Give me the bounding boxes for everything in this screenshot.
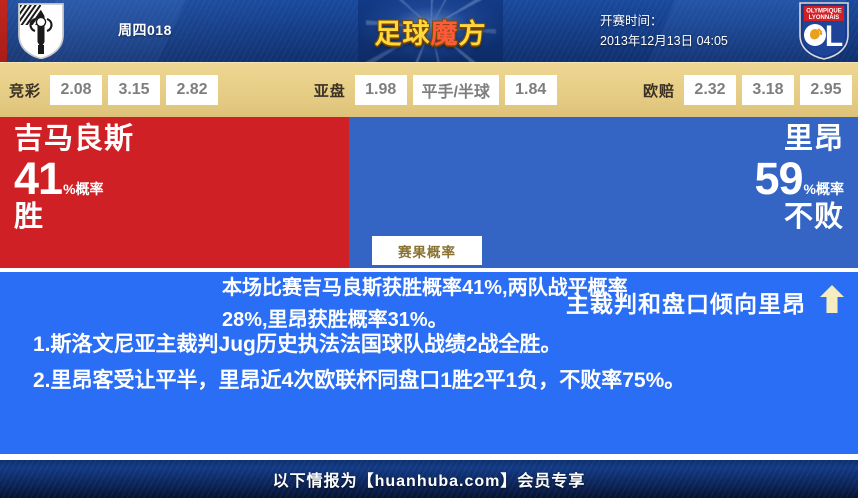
- away-result-label: 不败: [754, 203, 844, 232]
- home-probability-panel: 吉马良斯 41%概率 胜: [0, 117, 349, 268]
- odds-group-label: 竞彩: [0, 80, 50, 101]
- up-arrow-icon: [818, 284, 846, 314]
- intel-list-item: 2.里昂客受让平半，里昂近4次欧联杯同盘口1胜2平1负，不败率75%。: [33, 363, 833, 399]
- home-team-crest-icon: [17, 2, 65, 59]
- kickoff-label: 开赛时间：: [600, 11, 728, 31]
- home-percent-value: 41: [14, 153, 62, 204]
- odds-group-oupei: 欧赔 2.32 3.18 2.95: [634, 75, 858, 105]
- probability-section: 吉马良斯 41%概率 胜 里昂 59%概率 不败 赛果概率 本场比赛吉马良斯获胜…: [0, 117, 858, 268]
- odds-cell[interactable]: 3.18: [742, 75, 794, 105]
- brand-logo: 足球魔方: [358, 0, 503, 62]
- odds-group-label: 欧赔: [634, 80, 684, 101]
- kickoff-value: 2013年12月13日 04:05: [600, 31, 728, 51]
- away-percent-line: 59%概率: [754, 156, 844, 201]
- footer-bar: 以下情报为【huanhuba.com】会员专享: [0, 458, 858, 498]
- odds-cell[interactable]: 3.15: [108, 75, 160, 105]
- odds-cell-handicap[interactable]: 平手/半球: [413, 75, 499, 105]
- away-team-crest-icon: OLYMPIQUE LYONNAIS L: [798, 1, 850, 60]
- brand-text-part2: 魔: [431, 19, 459, 49]
- odds-group-label: 亚盘: [305, 80, 355, 101]
- away-crest-letters: L: [825, 20, 843, 53]
- odds-group-jingcai: 竞彩 2.08 3.15 2.82: [0, 75, 224, 105]
- odds-cell[interactable]: 2.08: [50, 75, 102, 105]
- odds-cell[interactable]: 2.32: [684, 75, 736, 105]
- match-round-label: 周四018: [118, 20, 172, 40]
- match-header: 周四018 足球魔方 开赛时间： 2013年12月13日 04:05 OLYMP…: [0, 0, 858, 62]
- away-team-block: 里昂 59%概率 不败: [754, 125, 844, 232]
- brand-text-part3: 方: [459, 19, 487, 49]
- header-red-accent-bar: [0, 0, 7, 62]
- home-percent-line: 41%概率: [14, 156, 134, 201]
- odds-cell[interactable]: 2.82: [166, 75, 218, 105]
- home-result-label: 胜: [14, 203, 134, 232]
- home-team-name: 吉马良斯: [14, 125, 134, 154]
- match-preview-card: 周四018 足球魔方 开赛时间： 2013年12月13日 04:05 OLYMP…: [0, 0, 858, 498]
- home-percent-suffix: %概率: [63, 181, 103, 197]
- away-crest-text-top: OLYMPIQUE: [806, 9, 841, 15]
- odds-group-yapan: 亚盘 1.98 平手/半球 1.84: [305, 75, 563, 105]
- odds-cell[interactable]: 1.98: [355, 75, 407, 105]
- brand-logo-text: 足球魔方: [375, 12, 487, 51]
- intel-list: 1.斯洛文尼亚主裁判Jug历史执法法国球队战绩2战全胜。 2.里昂客受让平半，里…: [33, 327, 833, 399]
- probability-tab[interactable]: 赛果概率: [372, 236, 482, 265]
- odds-bar: 竞彩 2.08 3.15 2.82 亚盘 1.98 平手/半球 1.84 欧赔 …: [0, 62, 858, 117]
- home-team-block: 吉马良斯 41%概率 胜: [14, 125, 134, 232]
- odds-cell[interactable]: 2.95: [800, 75, 852, 105]
- kickoff-time-block: 开赛时间： 2013年12月13日 04:05: [600, 11, 728, 51]
- away-team-name: 里昂: [754, 125, 844, 154]
- odds-cell[interactable]: 1.84: [505, 75, 557, 105]
- footer-text: 以下情报为【huanhuba.com】会员专享: [273, 467, 586, 491]
- away-percent-value: 59: [754, 153, 802, 204]
- brand-text-part1: 足球: [375, 19, 431, 49]
- probability-summary-text: 本场比赛吉马良斯获胜概率41%,两队战平概率28%,里昂获胜概率31%。: [222, 272, 642, 336]
- away-percent-suffix: %概率: [804, 181, 844, 197]
